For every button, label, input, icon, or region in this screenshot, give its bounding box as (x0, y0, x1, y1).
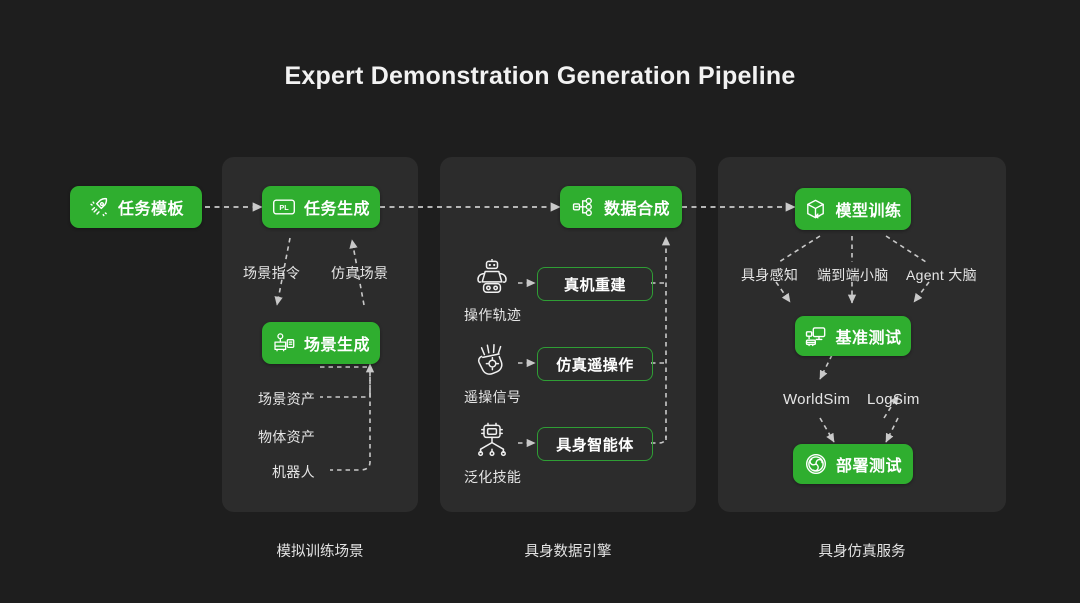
swirl-icon (804, 452, 828, 476)
robot-icon (470, 258, 514, 298)
node-label: 任务生成 (304, 195, 370, 219)
diagram-canvas: Expert Demonstration Generation Pipeline (0, 0, 1080, 603)
svg-text:PL: PL (279, 203, 289, 212)
source-label-teleop-signal: 遥操信号 (464, 387, 521, 407)
panel-caption-sim-training-scene: 模拟训练场景 (222, 540, 418, 561)
monitor-bench-icon (804, 325, 827, 347)
node-label: 场景生成 (304, 331, 370, 355)
glove-hand-icon (470, 340, 514, 380)
panel-caption-embodied-data-engine: 具身数据引擎 (440, 540, 696, 561)
source-label-operation-trajectory: 操作轨迹 (464, 305, 521, 325)
agent-chip-icon (470, 420, 514, 460)
page-title: Expert Demonstration Generation Pipeline (0, 62, 1080, 91)
edge-label-sim-scene: 仿真场景 (331, 263, 388, 283)
edge-label-worldsim: WorldSim (783, 391, 850, 408)
node-task-template[interactable]: 任务模板 (70, 186, 202, 228)
node-scene-generation[interactable]: 场景生成 (262, 322, 380, 364)
edge-label-embodied-perception: 具身感知 (741, 265, 798, 285)
node-label: 基准测试 (835, 324, 901, 348)
pl-badge-icon: PL (272, 197, 296, 217)
source-label-generalization-skill: 泛化技能 (464, 467, 521, 487)
node-deployment-test[interactable]: 部署测试 (793, 444, 913, 484)
input-label-robot: 机器人 (272, 462, 315, 482)
scene-robot-icon (272, 332, 296, 354)
data-merge-icon (572, 196, 596, 218)
node-label: 数据合成 (604, 195, 670, 219)
node-task-generation[interactable]: PL 任务生成 (262, 186, 380, 228)
node-model-training[interactable]: 模型训练 (795, 188, 911, 230)
edge-label-logsim: LogSim (867, 391, 920, 408)
node-data-synthesis[interactable]: 数据合成 (560, 186, 682, 228)
edge-label-agent-brain: Agent 大脑 (906, 265, 977, 285)
node-label: 部署测试 (836, 452, 902, 476)
node-benchmark-test[interactable]: 基准测试 (795, 316, 911, 356)
box-simulated-teleoperation[interactable]: 仿真遥操作 (537, 347, 653, 381)
panel-caption-embodied-sim-service: 具身仿真服务 (718, 540, 1006, 561)
node-label: 模型训练 (835, 197, 901, 221)
edge-label-end-to-end-cerebellum: 端到端小脑 (817, 265, 889, 285)
edge-label-scene-instruction: 场景指令 (243, 263, 300, 283)
box-real-machine-reconstruction[interactable]: 真机重建 (537, 267, 653, 301)
box-embodied-agent[interactable]: 具身智能体 (537, 427, 653, 461)
rocket-icon (88, 196, 110, 218)
node-label: 任务模板 (118, 195, 184, 219)
input-label-scene-assets: 场景资产 (258, 389, 315, 409)
input-label-object-assets: 物体资产 (258, 427, 315, 447)
cube-train-icon (804, 198, 827, 220)
